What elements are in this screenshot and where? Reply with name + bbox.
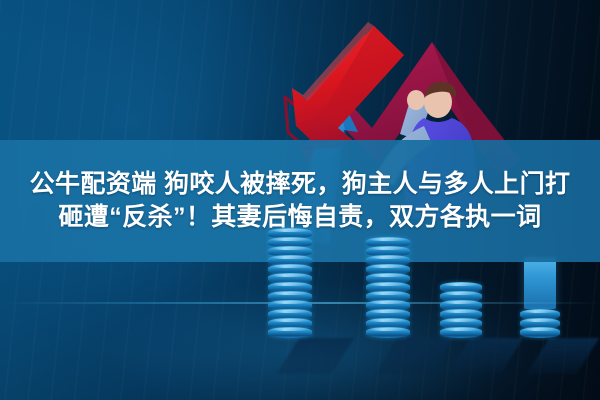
coin-stack-4: [520, 305, 560, 338]
coin-stack-shadow: [375, 338, 452, 374]
headline-line-1: 公牛配资端 狗咬人被摔死，狗主人与多人上门打: [30, 170, 571, 200]
coin-stack-1: [268, 224, 312, 338]
coin-stack-shadow: [527, 338, 599, 374]
coin-stack-shadow: [448, 338, 523, 374]
coin-stack-3: [440, 278, 482, 338]
coin: [268, 327, 312, 338]
coin: [366, 327, 410, 338]
coin: [520, 327, 560, 338]
banner-image: 公牛配资端 狗咬人被摔死，狗主人与多人上门打 砸遭“反杀”！其妻后悔自责，双方各…: [0, 0, 600, 400]
coin-stack-2: [366, 233, 410, 338]
coin: [440, 327, 482, 338]
coin-stack-shadow: [277, 338, 354, 374]
